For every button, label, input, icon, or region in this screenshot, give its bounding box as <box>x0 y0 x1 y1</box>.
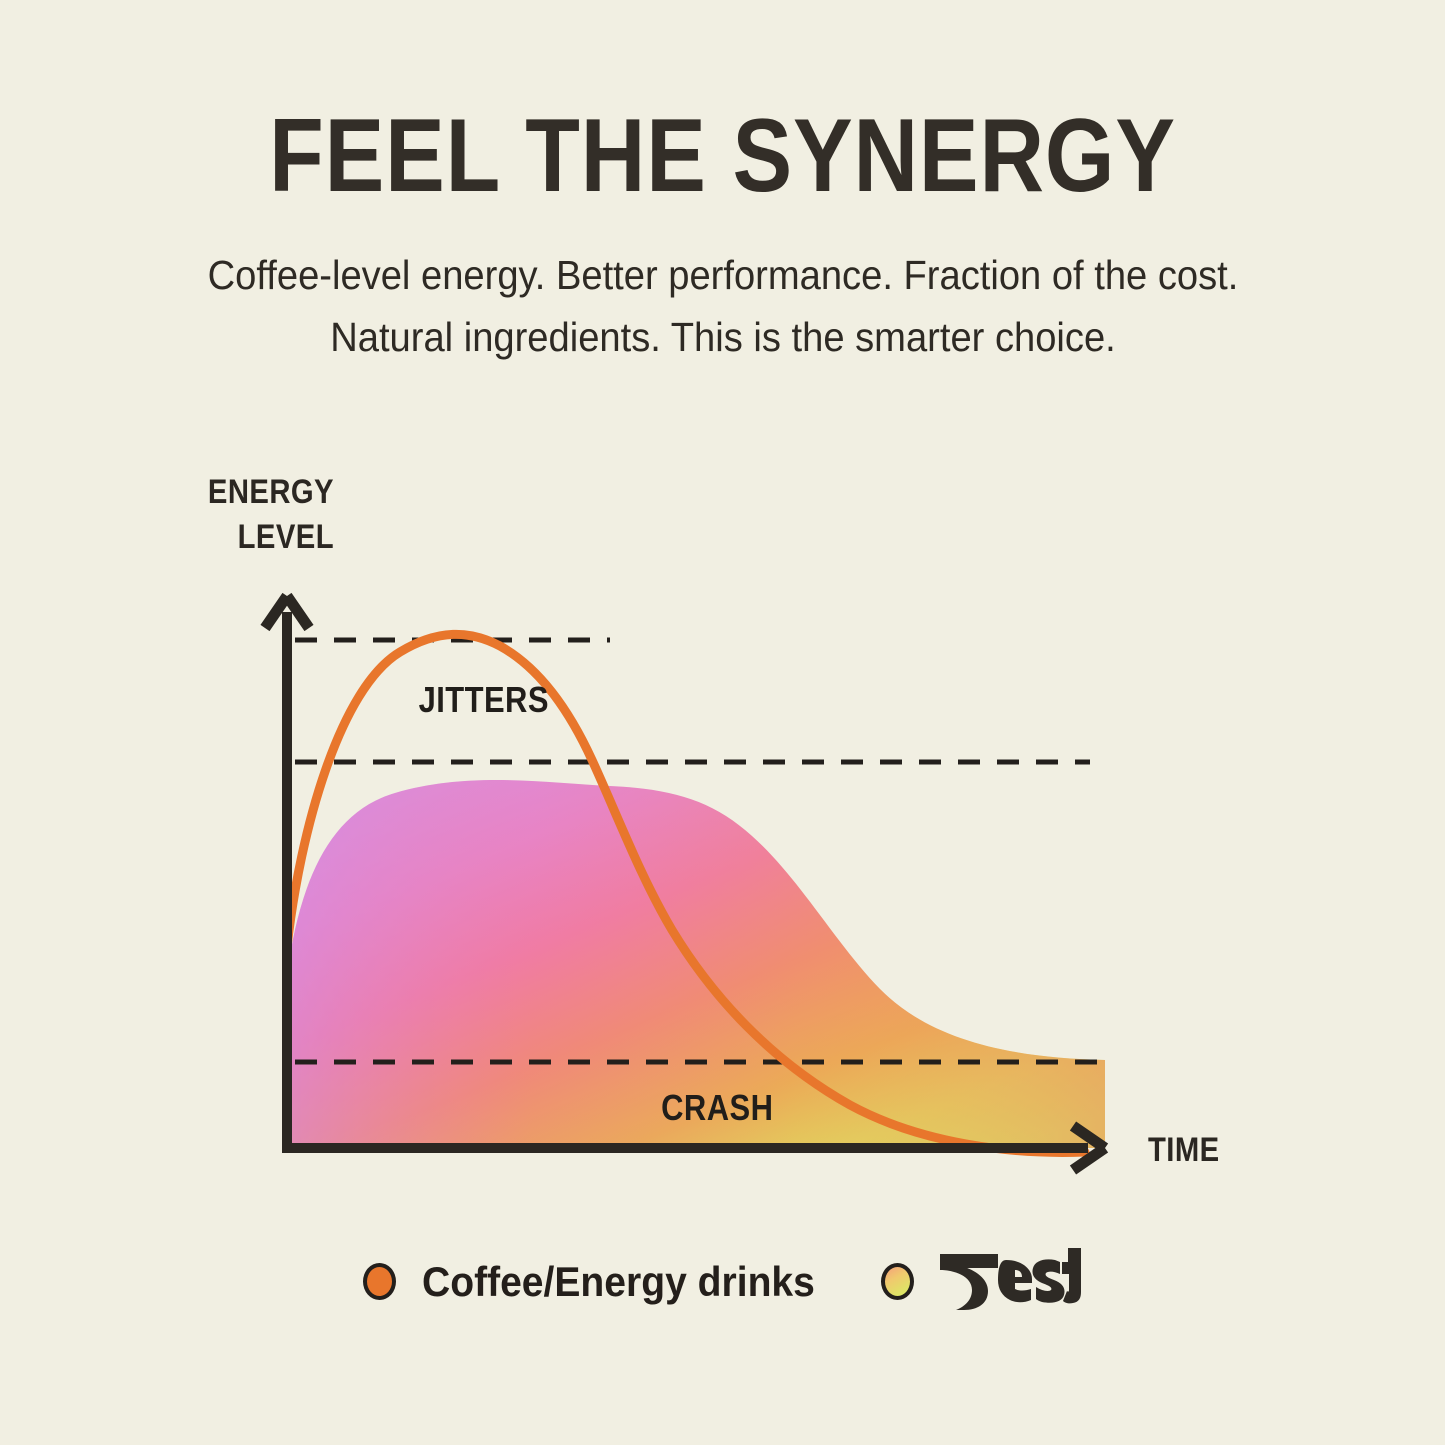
chart-legend: Coffee/Energy drinks <box>0 1248 1445 1315</box>
series-coffee-curve <box>287 634 1085 1152</box>
legend-item-coffee[interactable]: Coffee/Energy drinks <box>363 1258 880 1306</box>
zest-wordmark-logo <box>936 1248 1082 1315</box>
legend-item-zest[interactable] <box>881 1248 1082 1315</box>
infographic-canvas: FEEL THE SYNERGY Coffee-level energy. Be… <box>0 0 1445 1445</box>
legend-swatch-zest-icon <box>881 1263 914 1300</box>
annotation-crash: CRASH <box>661 1087 773 1129</box>
legend-label-coffee: Coffee/Energy drinks <box>422 1258 815 1306</box>
y-axis-arrowhead <box>265 596 309 628</box>
page-subtitle: Coffee-level energy. Better performance.… <box>174 208 1271 369</box>
y-axis-label: ENERGY LEVEL <box>157 470 334 560</box>
x-axis-label: TIME <box>1148 1131 1220 1170</box>
x-axis-arrowhead <box>1073 1126 1105 1170</box>
header: FEEL THE SYNERGY Coffee-level energy. Be… <box>0 0 1445 369</box>
legend-swatch-coffee-icon <box>363 1263 396 1300</box>
annotation-jitters: JITTERS <box>419 679 549 721</box>
page-title: FEEL THE SYNERGY <box>101 0 1344 208</box>
